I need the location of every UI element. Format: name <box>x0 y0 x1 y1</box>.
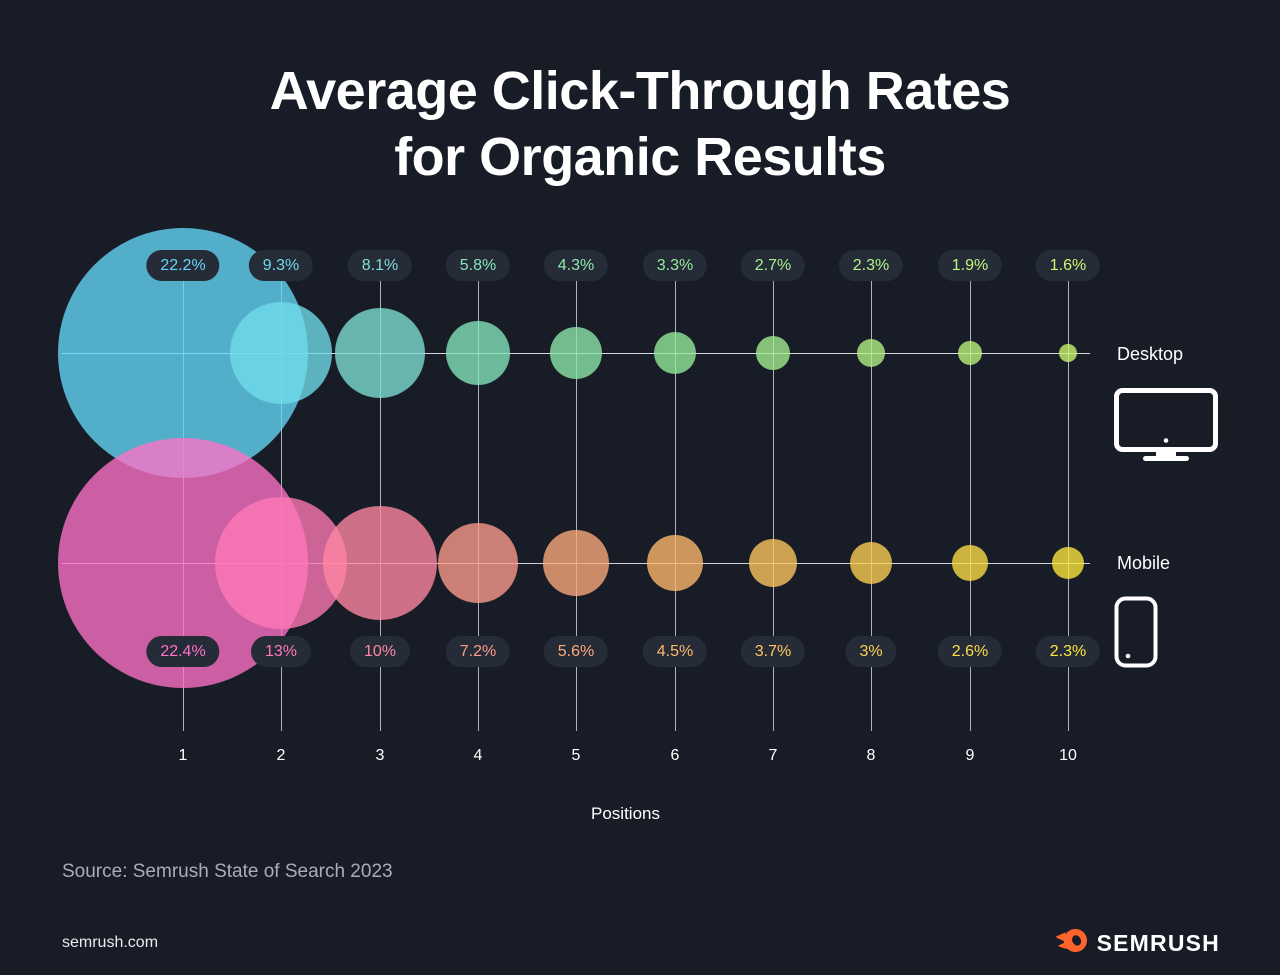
site-url: semrush.com <box>62 934 158 952</box>
mobile-phone-icon <box>1114 596 1158 673</box>
semrush-logo: SEMRUSH <box>1056 928 1220 958</box>
x-tick-label-5: 5 <box>572 747 581 765</box>
x-tick-label-2: 2 <box>277 747 286 765</box>
x-tick-label-9: 9 <box>966 747 975 765</box>
x-tick-label-3: 3 <box>376 747 385 765</box>
source-note: Source: Semrush State of Search 2023 <box>62 861 393 883</box>
infographic-root: Average Click-Through Rates for Organic … <box>0 0 1280 975</box>
semrush-wordmark: SEMRUSH <box>1097 930 1220 957</box>
semrush-comet-icon <box>1056 928 1088 958</box>
bubble-chart: 22.2%9.3%8.1%5.8%4.3%3.3%2.7%2.3%1.9%1.6… <box>0 0 1280 975</box>
x-tick-label-4: 4 <box>474 747 483 765</box>
x-tick-label-1: 1 <box>179 747 188 765</box>
legend-desktop-label: Desktop <box>1117 344 1183 365</box>
legend-mobile-label: Mobile <box>1117 553 1170 574</box>
x-tick-label-10: 10 <box>1059 747 1077 765</box>
x-tick-label-7: 7 <box>769 747 778 765</box>
desktop-monitor-icon <box>1114 388 1218 467</box>
x-tick-label-8: 8 <box>867 747 876 765</box>
x-axis: 12345678910 <box>0 0 1280 975</box>
x-tick-label-6: 6 <box>671 747 680 765</box>
x-axis-title: Positions <box>591 804 660 824</box>
